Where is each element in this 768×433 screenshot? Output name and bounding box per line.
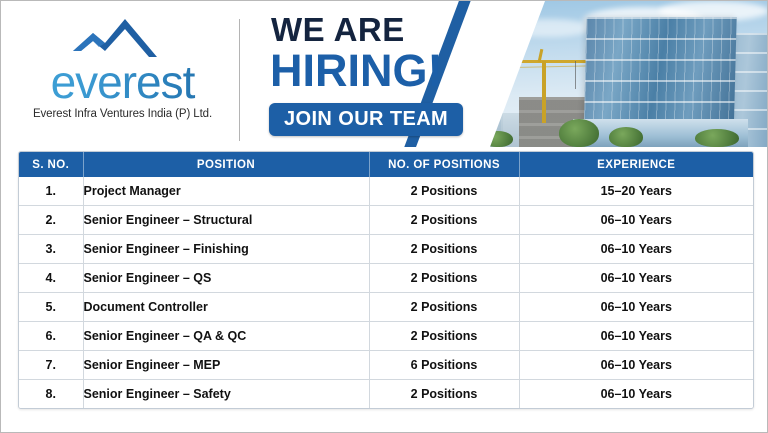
brand-legal-name: Everest Infra Ventures India (P) Ltd. (15, 108, 230, 120)
row-number-of-positions: 2 Positions (369, 264, 519, 293)
row-experience: 06–10 Years (519, 380, 753, 409)
column-header-positions: NO. OF POSITIONS (369, 152, 519, 177)
headline-line-1: WE ARE (271, 13, 484, 46)
row-serial-number: 1. (19, 177, 83, 206)
tree-shape (609, 127, 643, 147)
row-serial-number: 5. (19, 293, 83, 322)
row-experience: 06–10 Years (519, 206, 753, 235)
row-serial-number: 2. (19, 206, 83, 235)
column-header-position: POSITION (83, 152, 369, 177)
row-experience: 06–10 Years (519, 351, 753, 380)
tree-shape (559, 119, 599, 147)
mountain-peaks-icon (53, 17, 193, 61)
row-serial-number: 7. (19, 351, 83, 380)
table-row: 3.Senior Engineer – Finishing2 Positions… (19, 235, 753, 264)
brand-logo: everest Everest Infra Ventures India (P)… (15, 17, 230, 120)
table-row: 2.Senior Engineer – Structural2 Position… (19, 206, 753, 235)
vacancies-table-body: 1.Project Manager2 Positions15–20 Years2… (19, 177, 753, 408)
brand-wordmark: everest (15, 61, 230, 103)
row-number-of-positions: 2 Positions (369, 380, 519, 409)
row-serial-number: 6. (19, 322, 83, 351)
table-row: 1.Project Manager2 Positions15–20 Years (19, 177, 753, 206)
hiring-poster: everest Everest Infra Ventures India (P)… (0, 0, 768, 433)
row-number-of-positions: 6 Positions (369, 351, 519, 380)
table-row: 7.Senior Engineer – MEP6 Positions06–10 … (19, 351, 753, 380)
cloud-shape (503, 19, 593, 37)
vertical-divider (239, 19, 240, 141)
row-position-title: Document Controller (83, 293, 369, 322)
row-position-title: Senior Engineer – Safety (83, 380, 369, 409)
table-header-row: S. NO. POSITION NO. OF POSITIONS EXPERIE… (19, 152, 753, 177)
row-experience: 06–10 Years (519, 264, 753, 293)
headline-line-2: HIRING! (270, 48, 484, 93)
row-number-of-positions: 2 Positions (369, 177, 519, 206)
tree-shape (695, 129, 739, 147)
tree-shape (483, 131, 513, 147)
vacancies-table: S. NO. POSITION NO. OF POSITIONS EXPERIE… (19, 152, 753, 408)
banner-header: everest Everest Infra Ventures India (P)… (1, 1, 768, 147)
row-position-title: Senior Engineer – Finishing (83, 235, 369, 264)
vacancies-table-container: S. NO. POSITION NO. OF POSITIONS EXPERIE… (18, 151, 754, 409)
row-serial-number: 8. (19, 380, 83, 409)
row-number-of-positions: 2 Positions (369, 235, 519, 264)
row-serial-number: 3. (19, 235, 83, 264)
join-our-team-button[interactable]: JOIN OUR TEAM (269, 103, 463, 136)
table-row: 5.Document Controller2 Positions06–10 Ye… (19, 293, 753, 322)
headline-block: WE ARE HIRING! JOIN OUR TEAM (269, 13, 484, 136)
row-position-title: Senior Engineer – MEP (83, 351, 369, 380)
table-row: 4.Senior Engineer – QS2 Positions06–10 Y… (19, 264, 753, 293)
row-number-of-positions: 2 Positions (369, 206, 519, 235)
row-position-title: Senior Engineer – QS (83, 264, 369, 293)
row-position-title: Project Manager (83, 177, 369, 206)
row-experience: 06–10 Years (519, 322, 753, 351)
row-number-of-positions: 2 Positions (369, 322, 519, 351)
column-header-experience: EXPERIENCE (519, 152, 753, 177)
row-experience: 06–10 Years (519, 235, 753, 264)
row-serial-number: 4. (19, 264, 83, 293)
row-number-of-positions: 2 Positions (369, 293, 519, 322)
column-header-sno: S. NO. (19, 152, 83, 177)
row-experience: 15–20 Years (519, 177, 753, 206)
table-row: 6.Senior Engineer – QA & QC2 Positions06… (19, 322, 753, 351)
table-row: 8.Senior Engineer – Safety2 Positions06–… (19, 380, 753, 409)
row-position-title: Senior Engineer – QA & QC (83, 322, 369, 351)
construction-site-photo (463, 1, 768, 147)
crane-cable (575, 61, 576, 89)
crane-mast (542, 61, 546, 123)
row-position-title: Senior Engineer – Structural (83, 206, 369, 235)
row-experience: 06–10 Years (519, 293, 753, 322)
